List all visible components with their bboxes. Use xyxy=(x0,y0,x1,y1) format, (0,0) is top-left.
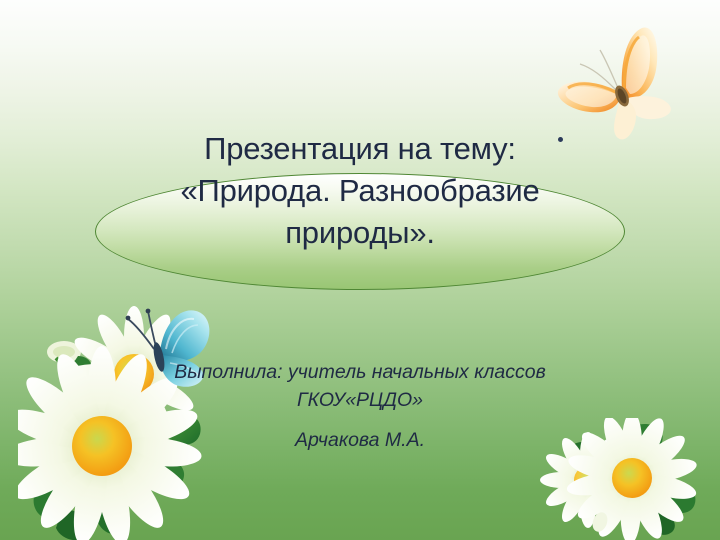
title-line-1: Презентация на тему: xyxy=(60,128,660,170)
subtitle-line-1: Выполнила: учитель начальных классов xyxy=(110,358,610,386)
subtitle-line-2: ГКОУ«РЦДО» xyxy=(110,386,610,414)
presentation-slide: Презентация на тему: «Природа. Разнообра… xyxy=(0,0,720,540)
title-line-3: природы». xyxy=(60,212,660,254)
slide-subtitle: Выполнила: учитель начальных классов ГКО… xyxy=(110,358,610,454)
subtitle-author: Арчакова М.А. xyxy=(110,426,610,454)
slide-title: Презентация на тему: «Природа. Разнообра… xyxy=(60,128,660,254)
title-line-2: «Природа. Разнообразие xyxy=(60,170,660,212)
